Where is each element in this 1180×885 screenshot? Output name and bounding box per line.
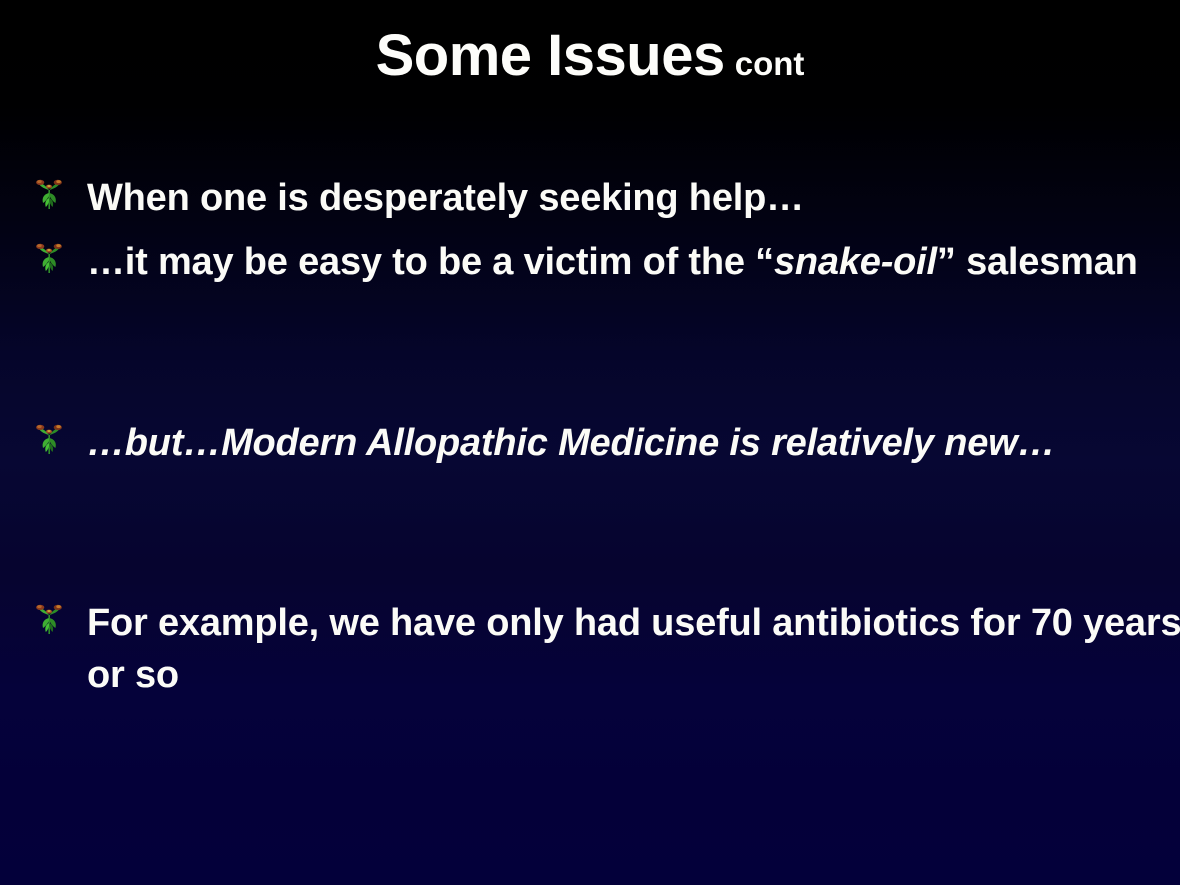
bullet-3-line-2: new… xyxy=(944,422,1055,464)
list-item-text: …but…Modern Allopathic Medicine is relat… xyxy=(87,417,1180,469)
bullet-2-italic-snake: snake- xyxy=(774,241,893,283)
list-item: …but…Modern Allopathic Medicine is relat… xyxy=(30,417,1180,469)
bullet-3-line-1: …but…Modern Allopathic Medicine is relat… xyxy=(87,422,934,464)
bullet-2-suffix: ” salesman xyxy=(937,241,1138,283)
bullet-2-italic-oil: oil xyxy=(893,241,937,283)
title-main-text: Some Issues xyxy=(376,23,725,88)
page-title: Some Issuescont xyxy=(0,22,1180,89)
plant-bullet-icon xyxy=(34,423,64,455)
plant-bullet-icon xyxy=(34,178,64,210)
list-item-text: …it may be easy to be a victim of the “s… xyxy=(87,236,1180,288)
plant-bullet-icon xyxy=(34,242,64,274)
plant-bullet-icon xyxy=(34,603,64,635)
bullet-4-line-1: For example, we have only had useful xyxy=(87,602,762,644)
list-item: When one is desperately seeking help… xyxy=(30,172,1180,224)
slide-canvas: Some Issuescont xyxy=(0,0,1180,885)
bullet-1-line-1: When one is desperately seeking help… xyxy=(87,177,804,219)
list-item: …it may be easy to be a victim of the “s… xyxy=(30,236,1180,288)
list-item: For example, we have only had useful ant… xyxy=(30,597,1180,701)
title-suffix-text: cont xyxy=(735,45,805,82)
list-item-text: When one is desperately seeking help… xyxy=(87,172,1180,224)
bullet-2-prefix: …it may be easy to be a victim of the “ xyxy=(87,241,774,283)
list-item-text: For example, we have only had useful ant… xyxy=(87,597,1180,701)
